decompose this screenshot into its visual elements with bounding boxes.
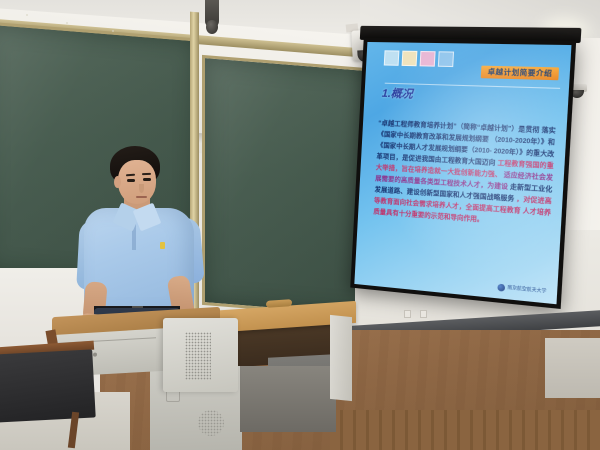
podium-lock-icon[interactable]: [93, 353, 97, 357]
university-logo-icon: [498, 283, 506, 291]
projected-slide: 卓越计划简要介绍 1.概况 “卓越工程师教育培养计划”（简称“卓越计划”）是贯彻…: [354, 42, 571, 304]
podium-right-side-panel: [330, 315, 352, 401]
presenter-eyebrow-right: [142, 173, 151, 175]
screen-frame: 卓越计划简要介绍 1.概况 “卓越工程师教育培养计划”（简称“卓越计划”）是贯彻…: [350, 38, 576, 309]
ceiling-microphone-icon: [205, 0, 219, 28]
presenter-mouth: [136, 196, 147, 198]
projection-screen: 卓越计划简要介绍 1.概况 “卓越工程师教育培养计划”（简称“卓越计划”）是贯彻…: [350, 38, 576, 309]
thumbnail-1: [383, 51, 399, 66]
floor-right: [545, 338, 600, 398]
classroom-photo: 卓越计划简要介绍 1.概况 “卓越工程师教育培养计划”（简称“卓越计划”）是贯彻…: [0, 0, 600, 450]
shirt-logo-icon: [160, 242, 165, 249]
slide-thumbnail-row: [383, 51, 453, 68]
chalk-speck: [26, 14, 28, 16]
slide-banner-title: 卓越计划简要介绍: [481, 65, 559, 80]
slide-university-logo: 南京航空航天大学: [498, 283, 547, 295]
podium-base-shadow: [240, 366, 336, 432]
slide-logo-text: 南京航空航天大学: [507, 285, 546, 295]
slide-heading: 1.概况: [381, 85, 413, 102]
podium-equipment-bay[interactable]: [163, 318, 238, 392]
presenter-eye-left: [127, 179, 135, 182]
presenter-ear: [114, 176, 121, 188]
podium-vent-grille-icon: [185, 332, 211, 380]
presenter-nose: [139, 184, 144, 193]
podium-speaker-grille-icon: [198, 410, 224, 436]
slide-body-text: “卓越工程师教育培养计划”（简称“卓越计划”）是贯彻 落实《国家中长期教育改革和…: [373, 118, 556, 231]
dark-sofa: [0, 349, 96, 422]
thumbnail-2: [401, 51, 417, 67]
wall-outlet: [420, 310, 427, 318]
thumbnail-3: [419, 51, 435, 67]
presenter-eye-right: [143, 178, 151, 181]
chalk-speck: [66, 22, 68, 24]
stage-platform-front: [330, 410, 600, 450]
chalk-speck: [112, 30, 114, 32]
thumbnail-4: [437, 52, 453, 68]
wall-outlet: [404, 310, 411, 318]
